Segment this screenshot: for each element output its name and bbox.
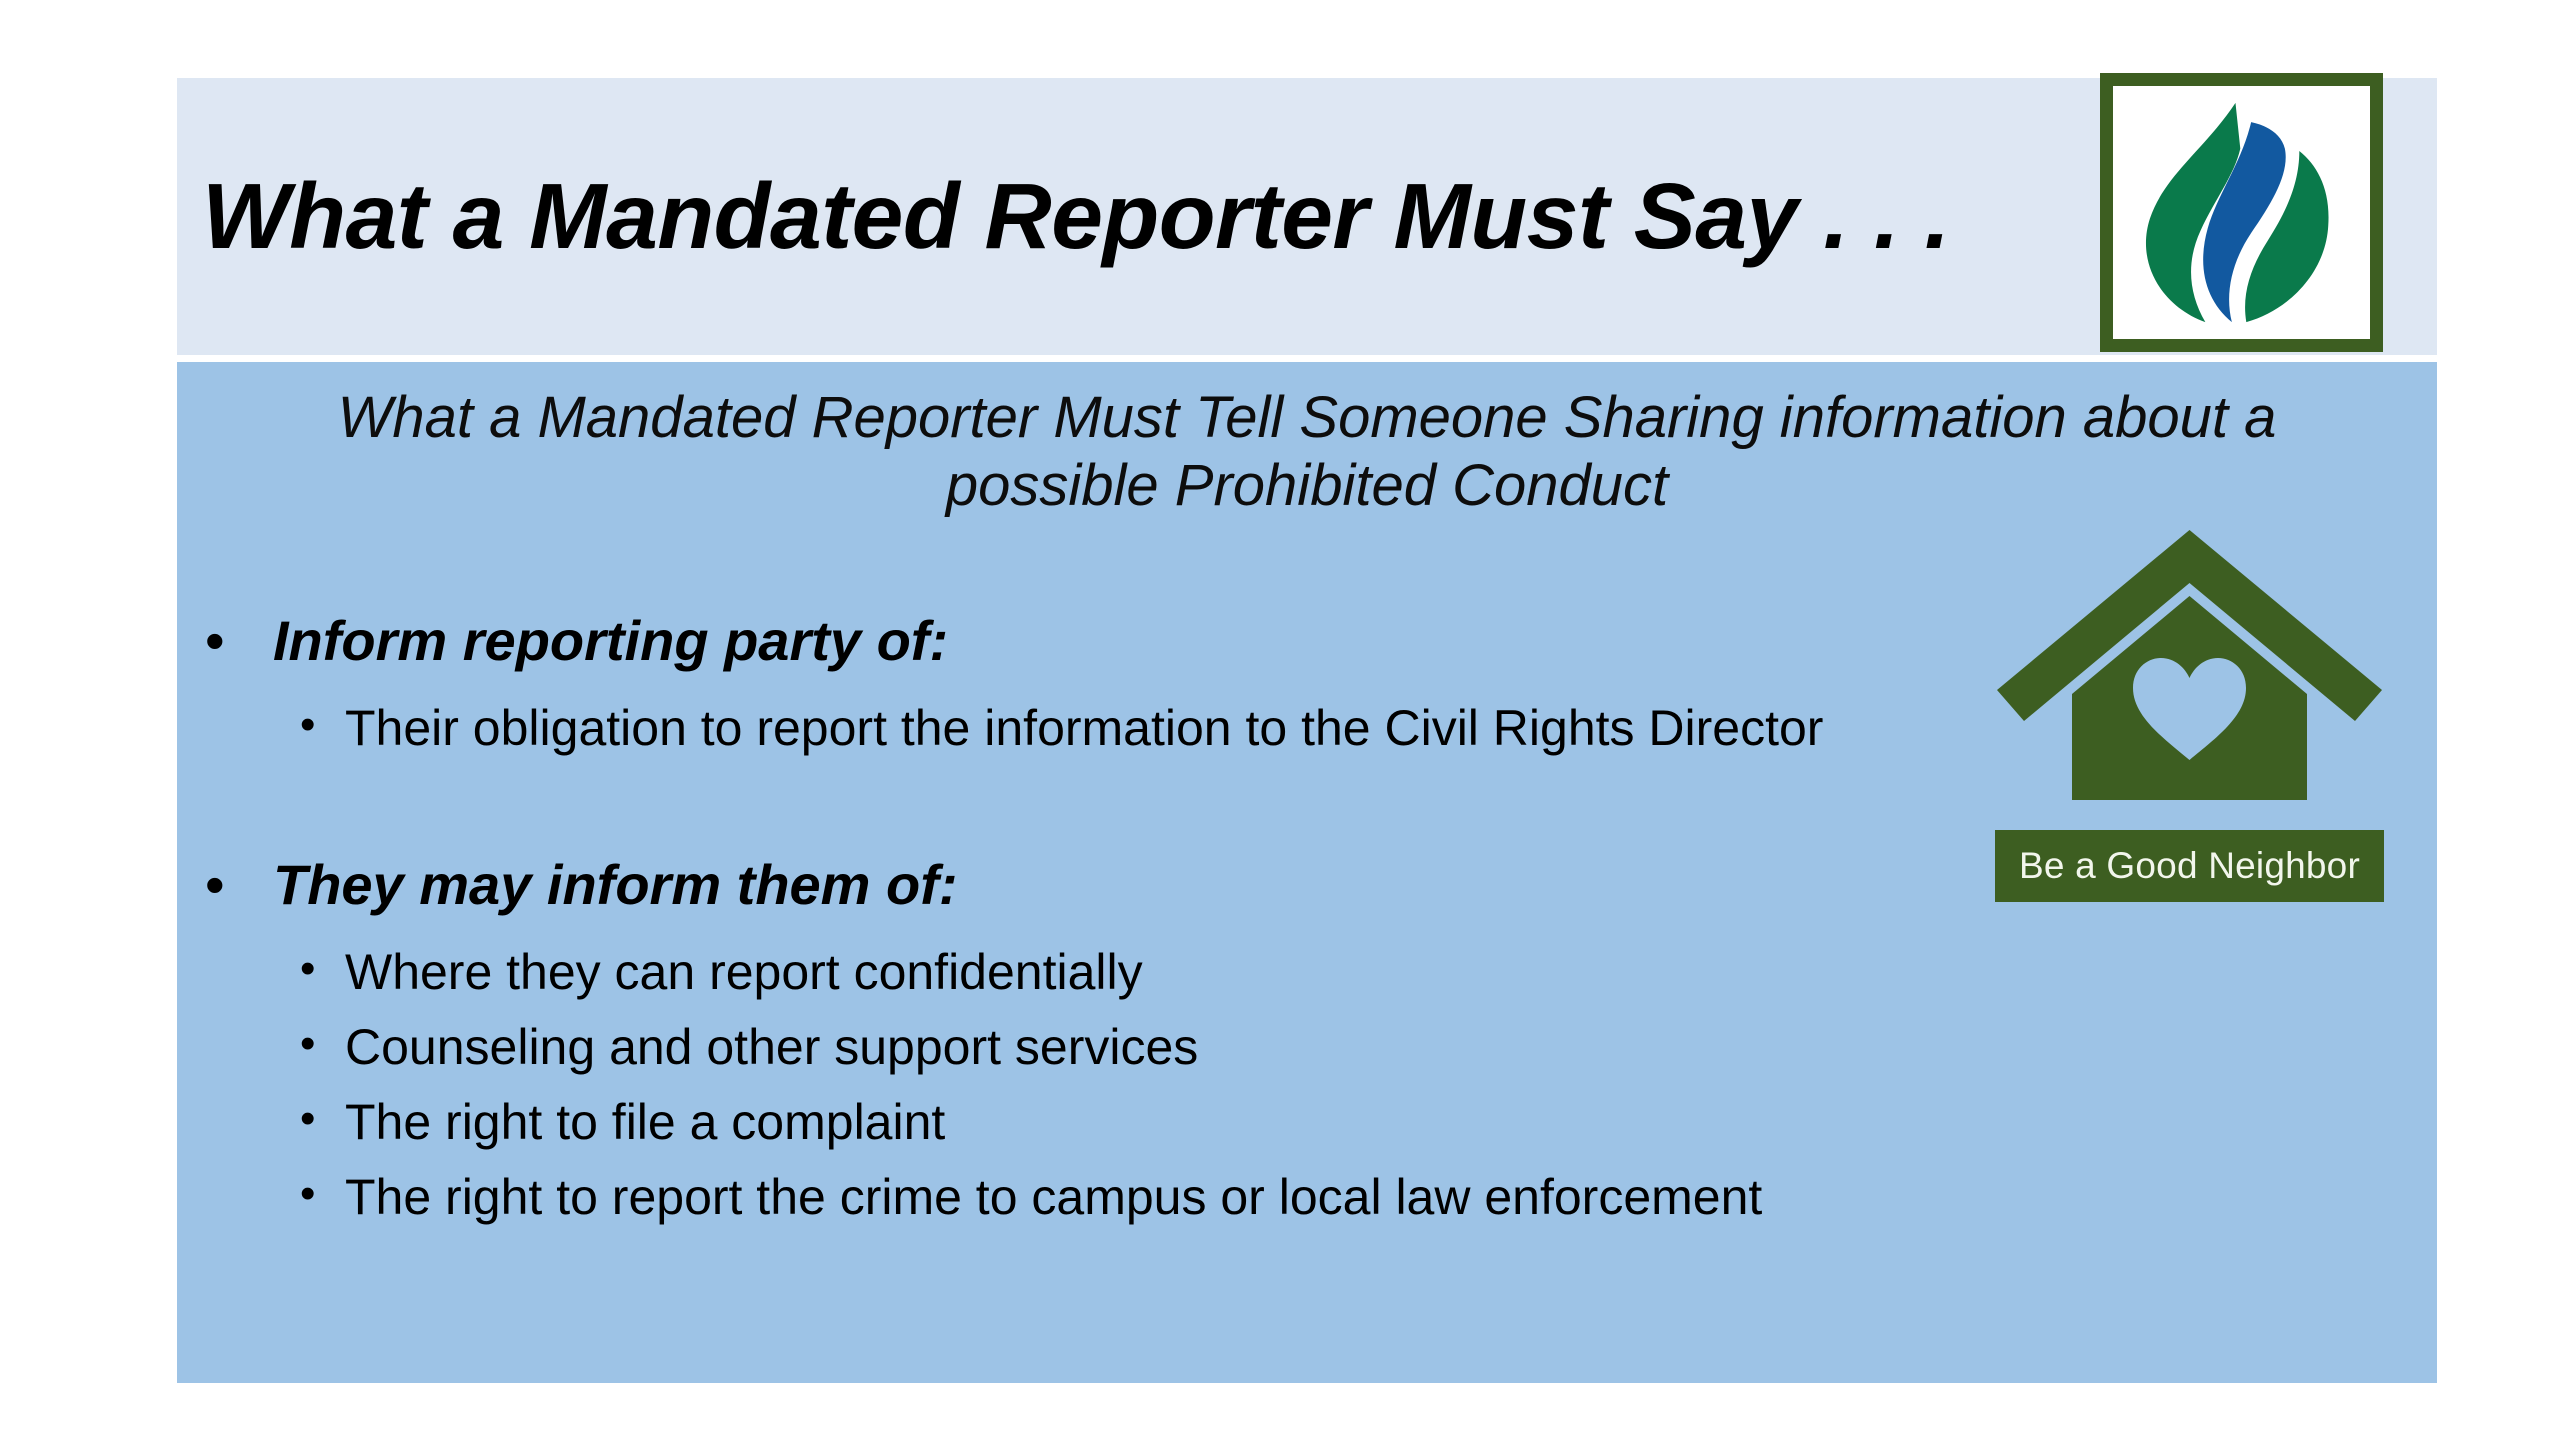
bullet-heading-label: They may inform them of: xyxy=(273,853,958,916)
slide-canvas: What a Mandated Reporter Must Say . . . … xyxy=(0,0,2560,1440)
sub-bullet-list: • Where they can report confidentially •… xyxy=(177,942,2437,1228)
list-item-label: The right to report the crime to campus … xyxy=(345,1169,1762,1225)
bullet-point-icon: • xyxy=(300,942,315,996)
list-item-label: Where they can report confidentially xyxy=(345,944,1143,1000)
bullet-point-icon: • xyxy=(300,1017,315,1071)
neighbor-banner: Be a Good Neighbor xyxy=(1995,830,2384,902)
house-with-heart-icon xyxy=(1995,528,2384,806)
list-item-label: Counseling and other support services xyxy=(345,1019,1198,1075)
bullet-point-icon: • xyxy=(300,1167,315,1221)
list-item: • The right to file a complaint xyxy=(300,1092,2437,1153)
list-item: • The right to report the crime to campu… xyxy=(300,1167,2437,1228)
neighbor-banner-label: Be a Good Neighbor xyxy=(2019,845,2360,887)
list-item: • Where they can report confidentially xyxy=(300,942,2437,1003)
list-item-label: Their obligation to report the informati… xyxy=(345,700,1823,756)
flame-leaf-icon xyxy=(2113,86,2370,339)
institution-logo xyxy=(2100,73,2383,352)
page-title: What a Mandated Reporter Must Say . . . xyxy=(202,168,2132,266)
title-band: What a Mandated Reporter Must Say . . . xyxy=(177,78,2437,355)
bullet-point-icon: • xyxy=(205,607,225,674)
bullet-heading-label: Inform reporting party of: xyxy=(273,609,948,672)
list-item-label: The right to file a complaint xyxy=(345,1094,945,1150)
be-a-good-neighbor-badge: Be a Good Neighbor xyxy=(1995,528,2384,923)
content-panel: What a Mandated Reporter Must Tell Someo… xyxy=(177,362,2437,1383)
bullet-point-icon: • xyxy=(300,1092,315,1146)
bullet-point-icon: • xyxy=(300,698,315,752)
content-subtitle: What a Mandated Reporter Must Tell Someo… xyxy=(247,384,2367,521)
list-item: • Counseling and other support services xyxy=(300,1017,2437,1078)
bullet-point-icon: • xyxy=(205,851,225,918)
